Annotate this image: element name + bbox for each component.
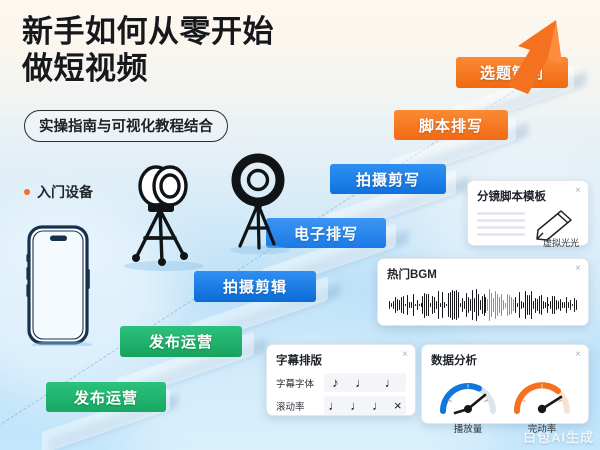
studio-light-tripod-illustration — [112, 162, 208, 272]
gauge-icon — [511, 373, 573, 415]
remove-icon[interactable]: × — [394, 399, 402, 412]
card-caption: 虚拟光光 — [543, 236, 579, 249]
step-label-3: 拍摄剪辑 — [194, 271, 316, 302]
step-paisheijianji[interactable]: 拍摄剪辑 — [194, 271, 316, 302]
equipment-label: 入门设备 — [24, 182, 93, 202]
close-icon[interactable]: × — [575, 264, 581, 274]
placeholder-lines — [477, 209, 525, 240]
note-glyph: ♩ — [385, 376, 398, 389]
row-value[interactable]: ♩ ♩ ♩ × — [324, 396, 406, 415]
growth-arrow-icon — [500, 16, 590, 96]
gauge-caption: 播放量 — [433, 421, 503, 435]
row-label: 滚动率 — [276, 399, 318, 413]
typeset-row[interactable]: 滚动率 ♩ ♩ ♩ × — [276, 396, 406, 415]
headline-line-1: 新手如何从零开始 — [22, 14, 274, 51]
step-paisheijianxie[interactable]: 拍摄剪写 — [330, 164, 446, 194]
note-glyph: ♩ — [328, 399, 341, 412]
bullet-dot-icon — [24, 189, 30, 195]
typeset-row[interactable]: 字幕字体 ♪ ♩ ♩ — [276, 373, 406, 392]
step-label-1: 发布运营 — [46, 382, 166, 412]
waveform-ticks — [387, 323, 579, 326]
step-label-2: 发布运营 — [120, 326, 242, 357]
close-icon[interactable]: × — [402, 350, 408, 360]
close-icon[interactable]: × — [575, 350, 581, 360]
hot-bgm-card[interactable]: × 热门BGM — [377, 258, 589, 326]
row-label: 字幕字体 — [276, 376, 318, 390]
step-label-5: 拍摄剪写 — [330, 164, 446, 194]
card-title: 热门BGM — [387, 266, 579, 282]
ring-light-tripod-illustration — [222, 152, 298, 256]
card-title: 字幕排版 — [276, 352, 406, 368]
note-glyph: ♩ — [355, 376, 368, 389]
smartphone-illustration — [22, 224, 100, 346]
gauge-completionrate: 完动率 — [507, 373, 577, 435]
headline-line-2: 做短视频 — [22, 51, 274, 88]
audio-waveform[interactable] — [387, 287, 579, 323]
step-fabuyunying-low[interactable]: 发布运营 — [46, 382, 166, 412]
watermark: 白包AI生成 — [523, 427, 594, 446]
card-title: 分镜脚本模板 — [477, 188, 579, 204]
step-label-6: 脚本排写 — [394, 110, 508, 140]
analytics-card[interactable]: × 数据分析 播放量 — [421, 344, 589, 424]
poster-canvas: 新手如何从零开始 做短视频 实操指南与可视化教程结合 入门设备 — [0, 0, 600, 450]
note-glyph: ♩ — [350, 399, 363, 412]
storyboard-template-card[interactable]: × 分镜脚本模板 虚拟光光 — [467, 180, 589, 246]
equipment-label-text: 入门设备 — [37, 182, 93, 202]
step-jiaobenpaixie[interactable]: 脚本排写 — [394, 110, 508, 140]
subtitle-pill: 实操指南与可视化教程结合 — [24, 110, 228, 142]
page-title: 新手如何从零开始 做短视频 — [22, 14, 274, 87]
row-value[interactable]: ♪ ♩ ♩ — [324, 373, 406, 392]
card-title: 数据分析 — [431, 352, 579, 368]
gauge-playcount: 播放量 — [433, 373, 503, 435]
close-icon[interactable]: × — [575, 186, 581, 196]
step-fabuyunying-high[interactable]: 发布运营 — [120, 326, 242, 357]
note-glyph: ♪ — [332, 376, 339, 389]
subtitle-typeset-card[interactable]: × 字幕排版 字幕字体 ♪ ♩ ♩ 滚动率 ♩ ♩ ♩ × — [266, 344, 416, 416]
gauge-icon — [437, 373, 499, 415]
note-glyph: ♩ — [372, 399, 385, 412]
